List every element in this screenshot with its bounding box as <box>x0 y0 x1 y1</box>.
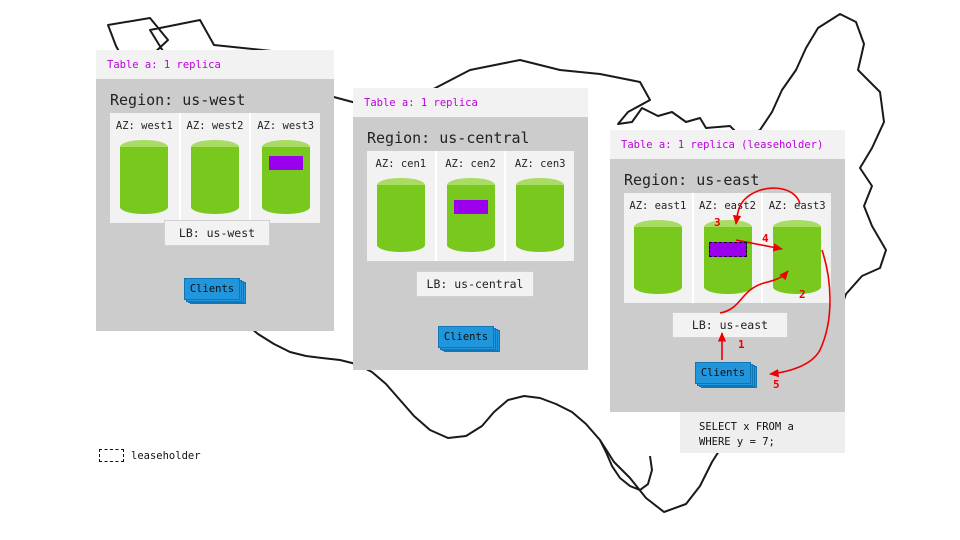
cylinder-body <box>773 227 821 287</box>
az-cell-cen1[interactable]: AZ: cen1 <box>367 151 437 261</box>
node-cylinder[interactable] <box>447 178 495 254</box>
arrow-label-3: 3 <box>714 216 721 229</box>
sql-line-1: SELECT x FROM a <box>699 421 794 433</box>
az-label: AZ: east1 <box>629 200 686 212</box>
dashed-rect-icon <box>99 449 124 462</box>
region-panel-us-east[interactable]: Table a: 1 replica (leaseholder) Region:… <box>610 130 845 412</box>
clients-label[interactable]: Clients <box>438 326 494 348</box>
az-row-us-east: AZ: east1 AZ: east2 AZ: east3 <box>624 193 831 303</box>
node-cylinder[interactable] <box>516 178 564 254</box>
region-title: Region: us-west <box>96 79 334 109</box>
cylinder-body <box>377 185 425 245</box>
cylinder-body <box>634 227 682 287</box>
node-cylinder[interactable] <box>634 220 682 296</box>
arrow-label-2: 2 <box>799 288 806 301</box>
replica-block[interactable] <box>269 156 303 170</box>
az-cell-west1[interactable]: AZ: west1 <box>110 113 181 223</box>
az-label: AZ: east2 <box>699 200 756 212</box>
table-replica-label: Table a: 1 replica (leaseholder) <box>621 139 823 151</box>
cylinder-bottom <box>191 200 239 214</box>
panel-header-us-west: Table a: 1 replica <box>96 50 334 79</box>
az-cell-west2[interactable]: AZ: west2 <box>181 113 252 223</box>
legend-label: leaseholder <box>131 450 201 462</box>
node-cylinder[interactable] <box>377 178 425 254</box>
cylinder-body <box>191 147 239 207</box>
diagram-canvas: Table a: 1 replica Region: us-west AZ: w… <box>0 0 960 540</box>
az-cell-east2[interactable]: AZ: east2 <box>694 193 764 303</box>
arrow-label-1: 1 <box>738 338 745 351</box>
az-cell-cen3[interactable]: AZ: cen3 <box>506 151 574 261</box>
node-cylinder[interactable] <box>191 140 239 216</box>
load-balancer-us-west[interactable]: LB: us-west <box>164 220 270 246</box>
region-title: Region: us-east <box>610 159 845 189</box>
az-cell-east1[interactable]: AZ: east1 <box>624 193 694 303</box>
node-cylinder[interactable] <box>120 140 168 216</box>
replica-block[interactable] <box>454 200 488 214</box>
table-replica-label: Table a: 1 replica <box>107 59 221 71</box>
cylinder-body <box>704 227 752 287</box>
az-label: AZ: east3 <box>769 200 826 212</box>
region-title: Region: us-central <box>353 117 588 147</box>
arrow-label-4: 4 <box>762 232 769 245</box>
cylinder-bottom <box>377 238 425 252</box>
cylinder-bottom <box>516 238 564 252</box>
az-label: AZ: west1 <box>116 120 173 132</box>
arrow-label-5: 5 <box>773 378 780 391</box>
clients-us-central[interactable]: Clients <box>438 326 500 352</box>
az-row-us-central: AZ: cen1 AZ: cen2 AZ: cen3 <box>367 151 574 261</box>
clients-label[interactable]: Clients <box>695 362 751 384</box>
cylinder-bottom <box>634 280 682 294</box>
panel-header-us-east: Table a: 1 replica (leaseholder) <box>610 130 845 159</box>
node-cylinder[interactable] <box>262 140 310 216</box>
cylinder-body <box>447 185 495 245</box>
az-label: AZ: west3 <box>257 120 314 132</box>
sql-query-box: SELECT x FROM aWHERE y = 7; <box>680 412 845 453</box>
az-label: AZ: cen1 <box>376 158 427 170</box>
replica-block-leaseholder[interactable] <box>709 242 747 257</box>
cylinder-bottom <box>704 280 752 294</box>
az-label: AZ: cen2 <box>445 158 496 170</box>
load-balancer-us-central[interactable]: LB: us-central <box>416 271 534 297</box>
clients-label[interactable]: Clients <box>184 278 240 300</box>
table-replica-label: Table a: 1 replica <box>364 97 478 109</box>
cylinder-body <box>516 185 564 245</box>
clients-us-west[interactable]: Clients <box>184 278 246 304</box>
clients-us-east[interactable]: Clients <box>695 362 757 388</box>
cylinder-bottom <box>120 200 168 214</box>
az-row-us-west: AZ: west1 AZ: west2 AZ: west3 <box>110 113 320 223</box>
cylinder-bottom <box>447 238 495 252</box>
az-cell-east3[interactable]: AZ: east3 <box>763 193 831 303</box>
az-cell-west3[interactable]: AZ: west3 <box>251 113 320 223</box>
az-label: AZ: cen3 <box>515 158 566 170</box>
region-panel-us-west[interactable]: Table a: 1 replica Region: us-west AZ: w… <box>96 50 334 331</box>
az-cell-cen2[interactable]: AZ: cen2 <box>437 151 507 261</box>
node-cylinder[interactable] <box>773 220 821 296</box>
cylinder-bottom <box>773 280 821 294</box>
legend-leaseholder: leaseholder <box>99 449 201 462</box>
cylinder-body <box>120 147 168 207</box>
panel-header-us-central: Table a: 1 replica <box>353 88 588 117</box>
cylinder-bottom <box>262 200 310 214</box>
sql-line-2: WHERE y = 7; <box>699 436 775 448</box>
load-balancer-us-east[interactable]: LB: us-east <box>672 312 788 338</box>
az-label: AZ: west2 <box>187 120 244 132</box>
region-panel-us-central[interactable]: Table a: 1 replica Region: us-central AZ… <box>353 88 588 370</box>
node-cylinder[interactable] <box>704 220 752 296</box>
